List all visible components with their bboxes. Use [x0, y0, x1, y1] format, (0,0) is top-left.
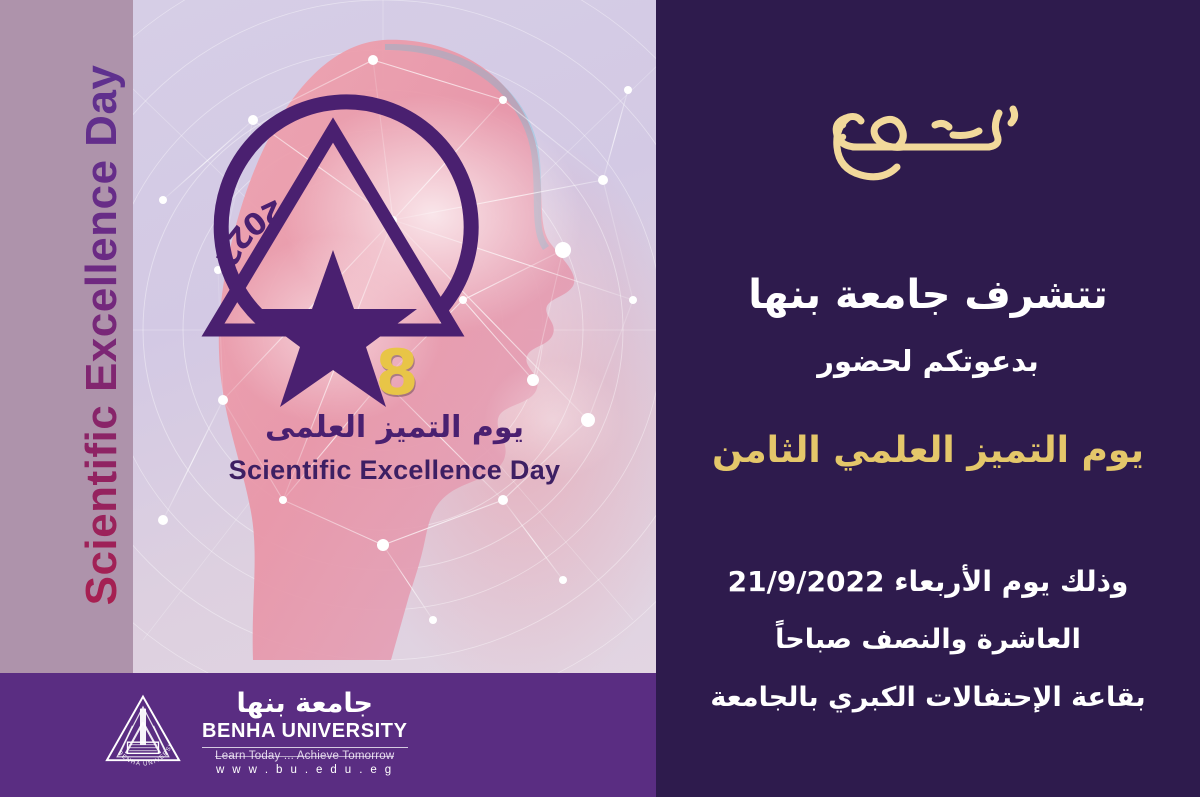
event-title: يوم التميز العلمي الثامن	[656, 426, 1200, 476]
artwork-panel: 2022 8 يوم التميز العلمى Scientific Exce…	[133, 0, 656, 673]
university-footer-band: BENHA UNIVERSITY جامعة بنها BENHA UNIVER…	[0, 673, 656, 797]
benha-university-emblem-icon: BENHA UNIVERSITY	[100, 688, 186, 774]
svg-text:2022: 2022	[207, 192, 289, 273]
university-name-block: جامعة بنها BENHA UNIVERSITY Learn Today …	[202, 687, 408, 776]
dawa-calligraphy-icon: دعوة	[803, 91, 1053, 191]
university-branding: BENHA UNIVERSITY جامعة بنها BENHA UNIVER…	[100, 687, 408, 776]
poster-visual-half: 2022 8 يوم التميز العلمى Scientific Exce…	[0, 0, 656, 797]
event-venue: بقاعة الإحتفالات الكبري بالجامعة	[656, 677, 1200, 719]
university-name-en: BENHA UNIVERSITY	[202, 719, 408, 744]
emblem-ring-text: BENHA UNIVERSITY	[100, 688, 174, 768]
footer-divider	[202, 747, 408, 748]
university-url[interactable]: w w w . b u . e d u . e g	[216, 764, 394, 776]
logo-title-en: Scientific Excellence Day	[133, 455, 656, 486]
logo-year-text: 2022	[207, 192, 289, 273]
university-tagline: Learn Today ... Achieve Tomorrow	[215, 750, 394, 762]
invitation-calligraphy: دعوة	[656, 86, 1200, 196]
invitation-line-1: تتشرف جامعة بنها	[656, 268, 1200, 322]
event-date: وذلك يوم الأربعاء 21/9/2022	[656, 560, 1200, 603]
invitation-line-2: بدعوتكم لحضور	[656, 340, 1200, 384]
event-details-block: وذلك يوم الأربعاء 21/9/2022 العاشرة والن…	[656, 560, 1200, 719]
event-time: العاشرة والنصف صباحاً	[656, 619, 1200, 661]
university-name-ar: جامعة بنها	[237, 689, 373, 719]
invitation-headline-block: تتشرف جامعة بنها بدعوتكم لحضور يوم التمي…	[656, 268, 1200, 476]
poster-text-half: دعوة تتشرف جامعة بنها بدعوتكم لحضور يوم …	[656, 0, 1200, 797]
logo-edition-number: 8	[369, 336, 425, 408]
svg-text:BENHA UNIVERSITY: BENHA UNIVERSITY	[100, 688, 174, 768]
logo-title-ar: يوم التميز العلمى	[133, 410, 656, 445]
invitation-poster: 2022 8 يوم التميز العلمى Scientific Exce…	[0, 0, 1200, 797]
vertical-side-title: Scientific Excellence Day	[77, 15, 127, 655]
logo-year-curve: 2022	[188, 190, 298, 320]
